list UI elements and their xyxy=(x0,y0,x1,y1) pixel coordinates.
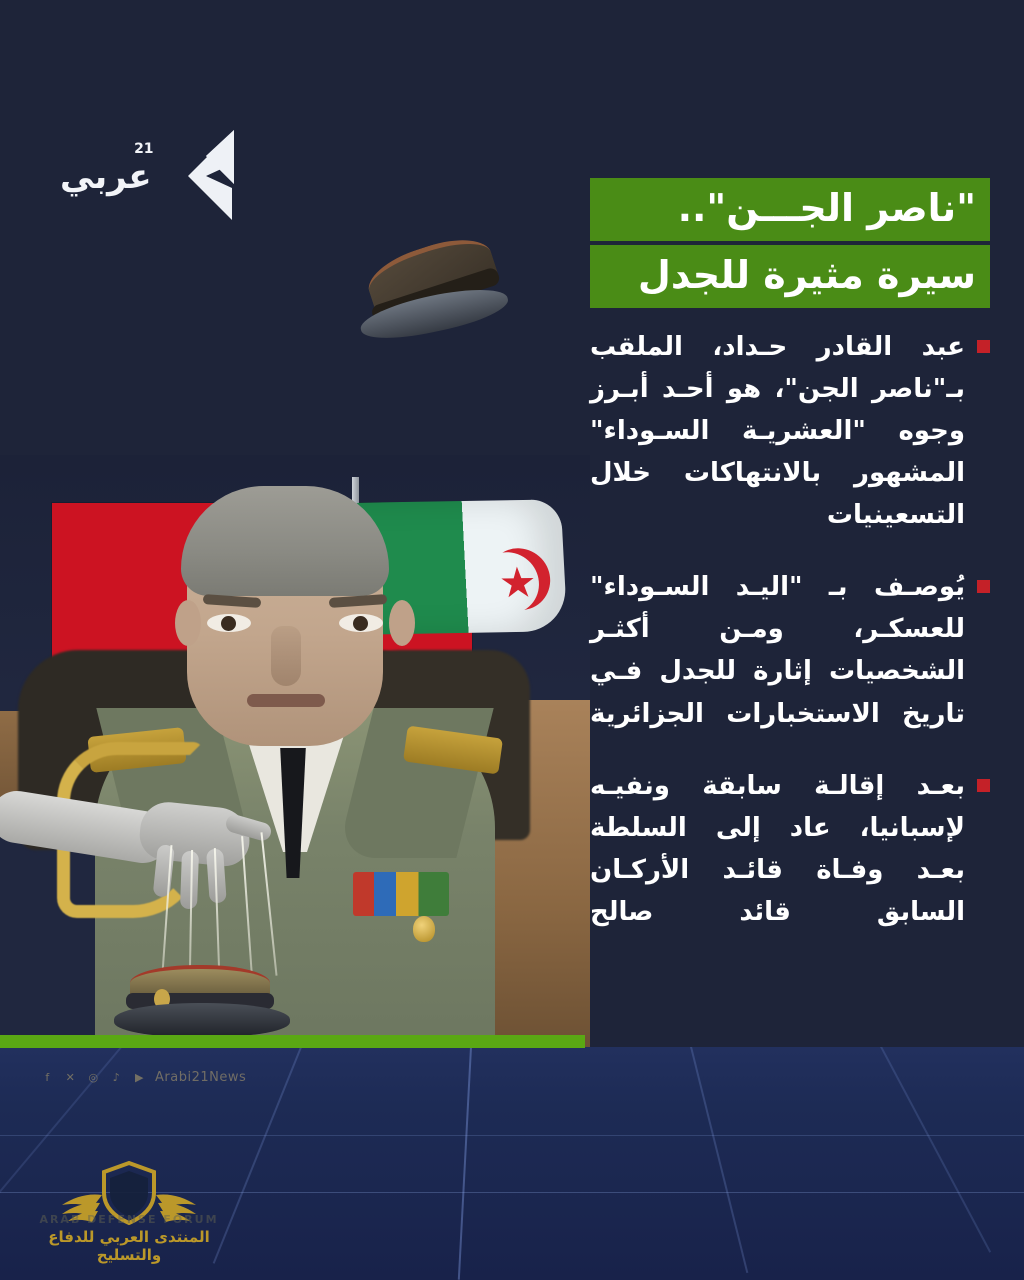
ear-right xyxy=(389,600,415,646)
bullet-marker-icon xyxy=(977,580,990,593)
brand-name: عربي 21 xyxy=(60,154,152,194)
list-item: بعـد إقالـة سابقة ونفيـه لإسبانيا، عاد إ… xyxy=(590,765,990,933)
bullet-text: يُوصـف بـ "اليـد السـوداء" للعسكـر، ومـن… xyxy=(590,566,965,734)
brand-logo[interactable]: عربي 21 xyxy=(60,126,240,222)
forum-watermark: ARAB DEFENSE FORUM المنتدى العربي للدفاع… xyxy=(14,1159,244,1264)
facebook-icon[interactable]: f xyxy=(40,1070,55,1085)
bullet-marker-icon xyxy=(977,340,990,353)
text-column: "ناصر الجـــن".. سيرة مثيرة للجدل عبد ال… xyxy=(590,178,990,963)
bullet-list: عبد القادر حـداد، الملقب بـ"ناصر الجن"، … xyxy=(590,326,990,933)
green-accent-strip xyxy=(0,1035,585,1048)
star-icon: ★ xyxy=(498,566,537,601)
infographic-canvas: ★ xyxy=(0,0,1024,1280)
officer-hair xyxy=(181,486,389,596)
officer-figure xyxy=(95,480,495,1047)
play-chevron-icon xyxy=(166,126,240,222)
officer-photo: ★ xyxy=(0,455,590,1047)
eye-left xyxy=(207,614,251,632)
youtube-icon[interactable]: ▶ xyxy=(132,1070,147,1085)
puppet-military-cap-icon xyxy=(118,965,288,1043)
list-item: عبد القادر حـداد، الملقب بـ"ناصر الجن"، … xyxy=(590,326,990,537)
brand-name-text: عربي xyxy=(60,157,152,197)
floating-military-cap-icon xyxy=(346,218,524,361)
medal-badge xyxy=(413,916,435,942)
list-item: يُوصـف بـ "اليـد السـوداء" للعسكـر، ومـن… xyxy=(590,566,990,734)
puppeteer-hand xyxy=(0,775,280,905)
x-icon[interactable]: ✕ xyxy=(63,1070,78,1085)
watermark-english: ARAB DEFENSE FORUM xyxy=(14,1213,244,1226)
nose xyxy=(271,626,301,686)
headline-line-1: "ناصر الجـــن".. xyxy=(590,178,990,241)
mouth xyxy=(247,694,325,707)
medal-ribbons xyxy=(353,872,449,916)
brand-superscript: 21 xyxy=(134,142,153,156)
headline-line-2: سيرة مثيرة للجدل xyxy=(590,245,990,308)
social-links-bar[interactable]: f ✕ ◎ ♪ ▶ Arabi21News xyxy=(40,1070,246,1085)
bullet-marker-icon xyxy=(977,779,990,792)
bullet-text: عبد القادر حـداد، الملقب بـ"ناصر الجن"، … xyxy=(590,326,965,537)
ear-left xyxy=(175,600,201,646)
social-handle[interactable]: Arabi21News xyxy=(155,1070,246,1085)
headline-block: "ناصر الجـــن".. سيرة مثيرة للجدل xyxy=(590,178,990,308)
instagram-icon[interactable]: ◎ xyxy=(86,1070,101,1085)
tiktok-icon[interactable]: ♪ xyxy=(109,1070,124,1085)
bullet-text: بعـد إقالـة سابقة ونفيـه لإسبانيا، عاد إ… xyxy=(590,765,965,933)
eye-right xyxy=(339,614,383,632)
watermark-arabic: المنتدى العربي للدفاع والتسليح xyxy=(14,1228,244,1264)
